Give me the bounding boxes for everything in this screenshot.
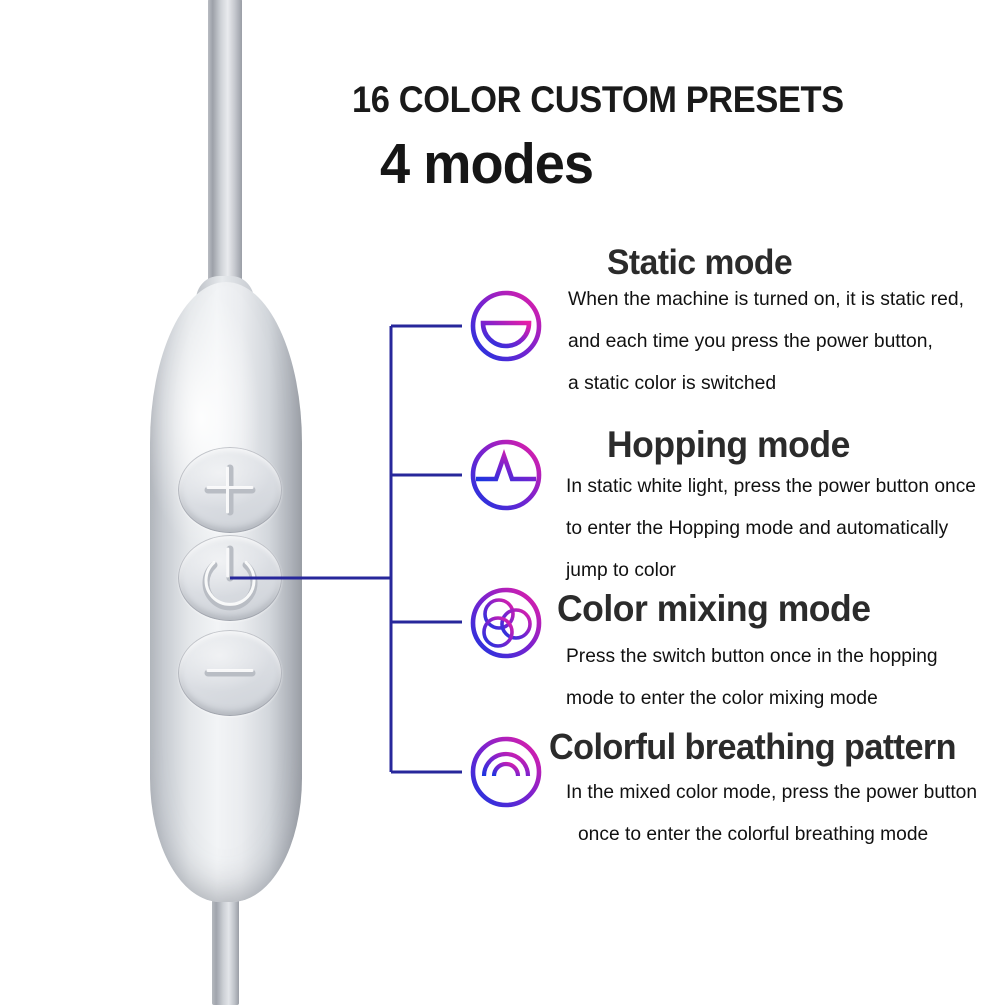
mode-desc-colorful-breathing-line-2: once to enter the colorful breathing mod… [578,823,928,846]
headline-secondary: 4 modes [380,131,593,197]
power-icon [178,535,282,621]
mode-desc-hopping-line-1: In static white light, press the power b… [566,475,976,498]
static-mode-icon [468,288,544,364]
colorful-breathing-mode-icon [468,734,544,810]
mode-desc-hopping-line-3: jump to color [566,559,676,582]
volume-down-button[interactable] [178,630,282,716]
infographic-canvas: Static mode When the machine is turned o… [0,0,1000,1000]
volume-up-button[interactable] [178,447,282,533]
mode-title-static: Static mode [607,243,792,283]
color-mixing-mode-icon [468,585,544,661]
plus-icon [178,447,282,533]
cable-upper [208,0,242,298]
mode-desc-color-mixing-line-2: mode to enter the color mixing mode [566,687,878,710]
mode-desc-static-line-2: and each time you press the power button… [568,330,933,353]
mode-desc-static-line-3: a static color is switched [568,372,776,395]
mode-desc-colorful-breathing-line-1: In the mixed color mode, press the power… [566,781,977,804]
hopping-mode-icon [468,437,544,513]
mode-title-color-mixing: Color mixing mode [557,588,871,630]
mode-desc-static-line-1: When the machine is turned on, it is sta… [568,288,964,311]
mode-desc-color-mixing-line-1: Press the switch button once in the hopp… [566,645,938,668]
mode-desc-hopping-line-2: to enter the Hopping mode and automatica… [566,517,948,540]
power-button[interactable] [178,535,282,621]
headline-primary: 16 COLOR CUSTOM PRESETS [352,79,844,121]
minus-icon [178,630,282,716]
mode-title-hopping: Hopping mode [607,424,850,466]
mode-title-colorful-breathing: Colorful breathing pattern [549,726,956,768]
